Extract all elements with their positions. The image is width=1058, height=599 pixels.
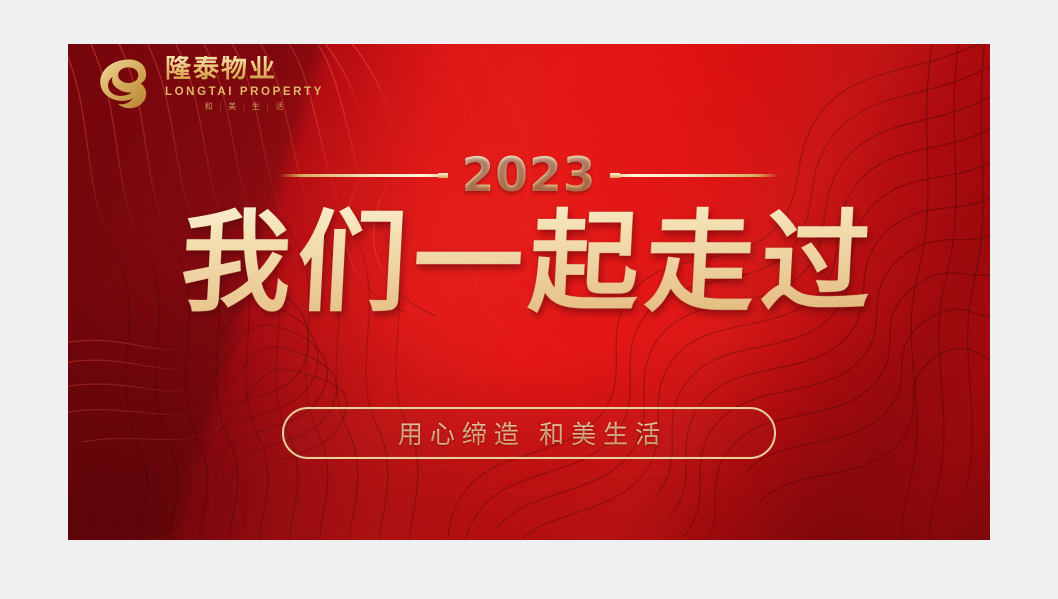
brand-logo: 隆泰物业 LONGTAI PROPERTY 和 | 美 | 生 | 活 (98, 56, 324, 111)
slogan-sep-3: | (264, 102, 273, 111)
slogan-char-2: 美 (228, 102, 237, 111)
promo-banner: 隆泰物业 LONGTAI PROPERTY 和 | 美 | 生 | 活 2023… (68, 44, 990, 540)
year-header: 2023 (68, 152, 990, 199)
gold-rule-right-icon (614, 173, 779, 178)
brand-name-en: LONGTAI PROPERTY (165, 87, 324, 99)
slogan-sep-2: | (240, 102, 249, 111)
slogan-char-4: 活 (275, 102, 284, 111)
brand-slogan: 和 | 美 | 生 | 活 (165, 103, 324, 111)
subtitle-pill: 用心缔造 和美生活 (282, 407, 776, 459)
slogan-sep-1: | (217, 102, 226, 111)
longtai-swirl-logo-icon (98, 57, 154, 109)
brand-name-cn: 隆泰物业 (165, 56, 324, 82)
slogan-char-3: 生 (252, 102, 261, 111)
page-title: 我们一起走过 (68, 204, 990, 325)
gold-rule-left-icon (279, 173, 444, 178)
subtitle-text: 用心缔造 和美生活 (391, 415, 667, 451)
slogan-char-1: 和 (205, 102, 214, 111)
year-label: 2023 (462, 152, 597, 199)
